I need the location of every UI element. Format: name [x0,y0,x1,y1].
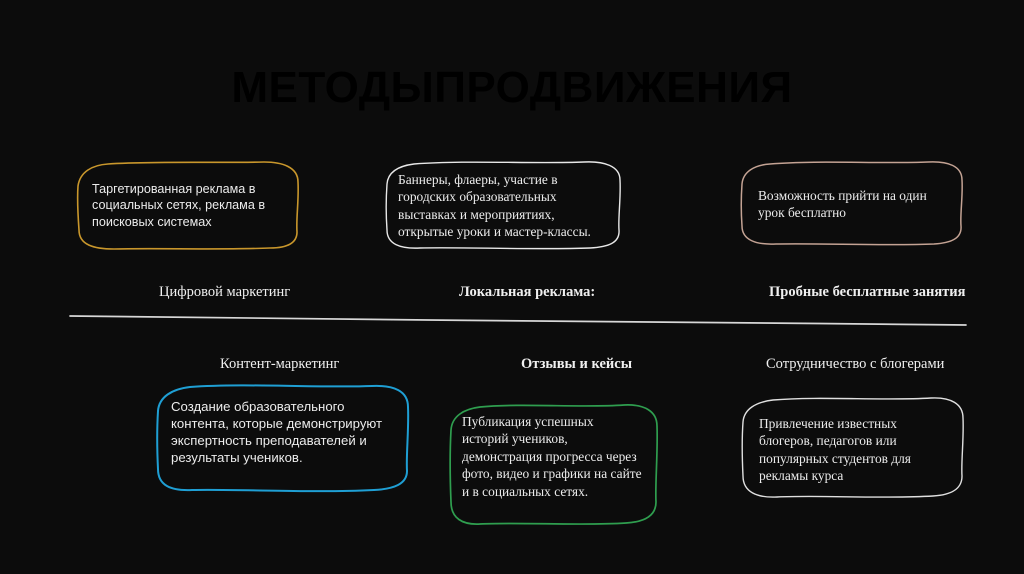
caption-blogger-collab: Сотрудничество с блогерами [766,357,944,373]
page-title: МЕТОДЫПРОДВИЖЕНИЯ [0,66,1024,110]
slide-canvas: МЕТОДЫПРОДВИЖЕНИЯ Таргетированная реклам… [0,0,1024,574]
title-part-white: МЕТОДЫ [231,63,434,112]
caption-local-ads: Локальная реклама: [459,285,595,301]
callout-trial-lessons[interactable]: Возможность прийти на один урок бесплатн… [738,160,966,246]
caption-content-marketing: Контент-маркетинг [220,357,339,373]
callout-digital-marketing[interactable]: Таргетированная реклама в социальных сет… [74,160,302,250]
title-part-gold: ПРОДВИЖЕНИЯ [434,63,792,112]
callout-reviews-cases[interactable]: Публикация успешных историй учеников, де… [448,402,660,528]
section-divider [68,312,968,326]
callout-text-3: Возможность прийти на один урок бесплатн… [758,187,948,222]
divider-line [68,312,968,326]
callout-text-6: Привлечение известных блогеров, педагого… [759,415,949,485]
callout-text-2: Баннеры, флаеры, участие в городских обр… [398,171,610,241]
callout-text-4: Создание образовательного контента, кото… [171,398,396,467]
callout-content-marketing[interactable]: Создание образовательного контента, кото… [154,383,412,493]
caption-digital-marketing: Цифровой маркетинг [159,285,290,301]
caption-trial-lessons: Пробные бесплатные занятия [769,285,966,301]
callout-local-ads[interactable]: Баннеры, флаеры, участие в городских обр… [384,160,624,250]
callout-text-1: Таргетированная реклама в социальных сет… [92,181,287,230]
callout-text-5: Публикация успешных историй учеников, де… [462,413,642,500]
callout-blogger-collab[interactable]: Привлечение известных блогеров, педагого… [739,396,967,499]
caption-reviews-cases: Отзывы и кейсы [521,357,632,373]
